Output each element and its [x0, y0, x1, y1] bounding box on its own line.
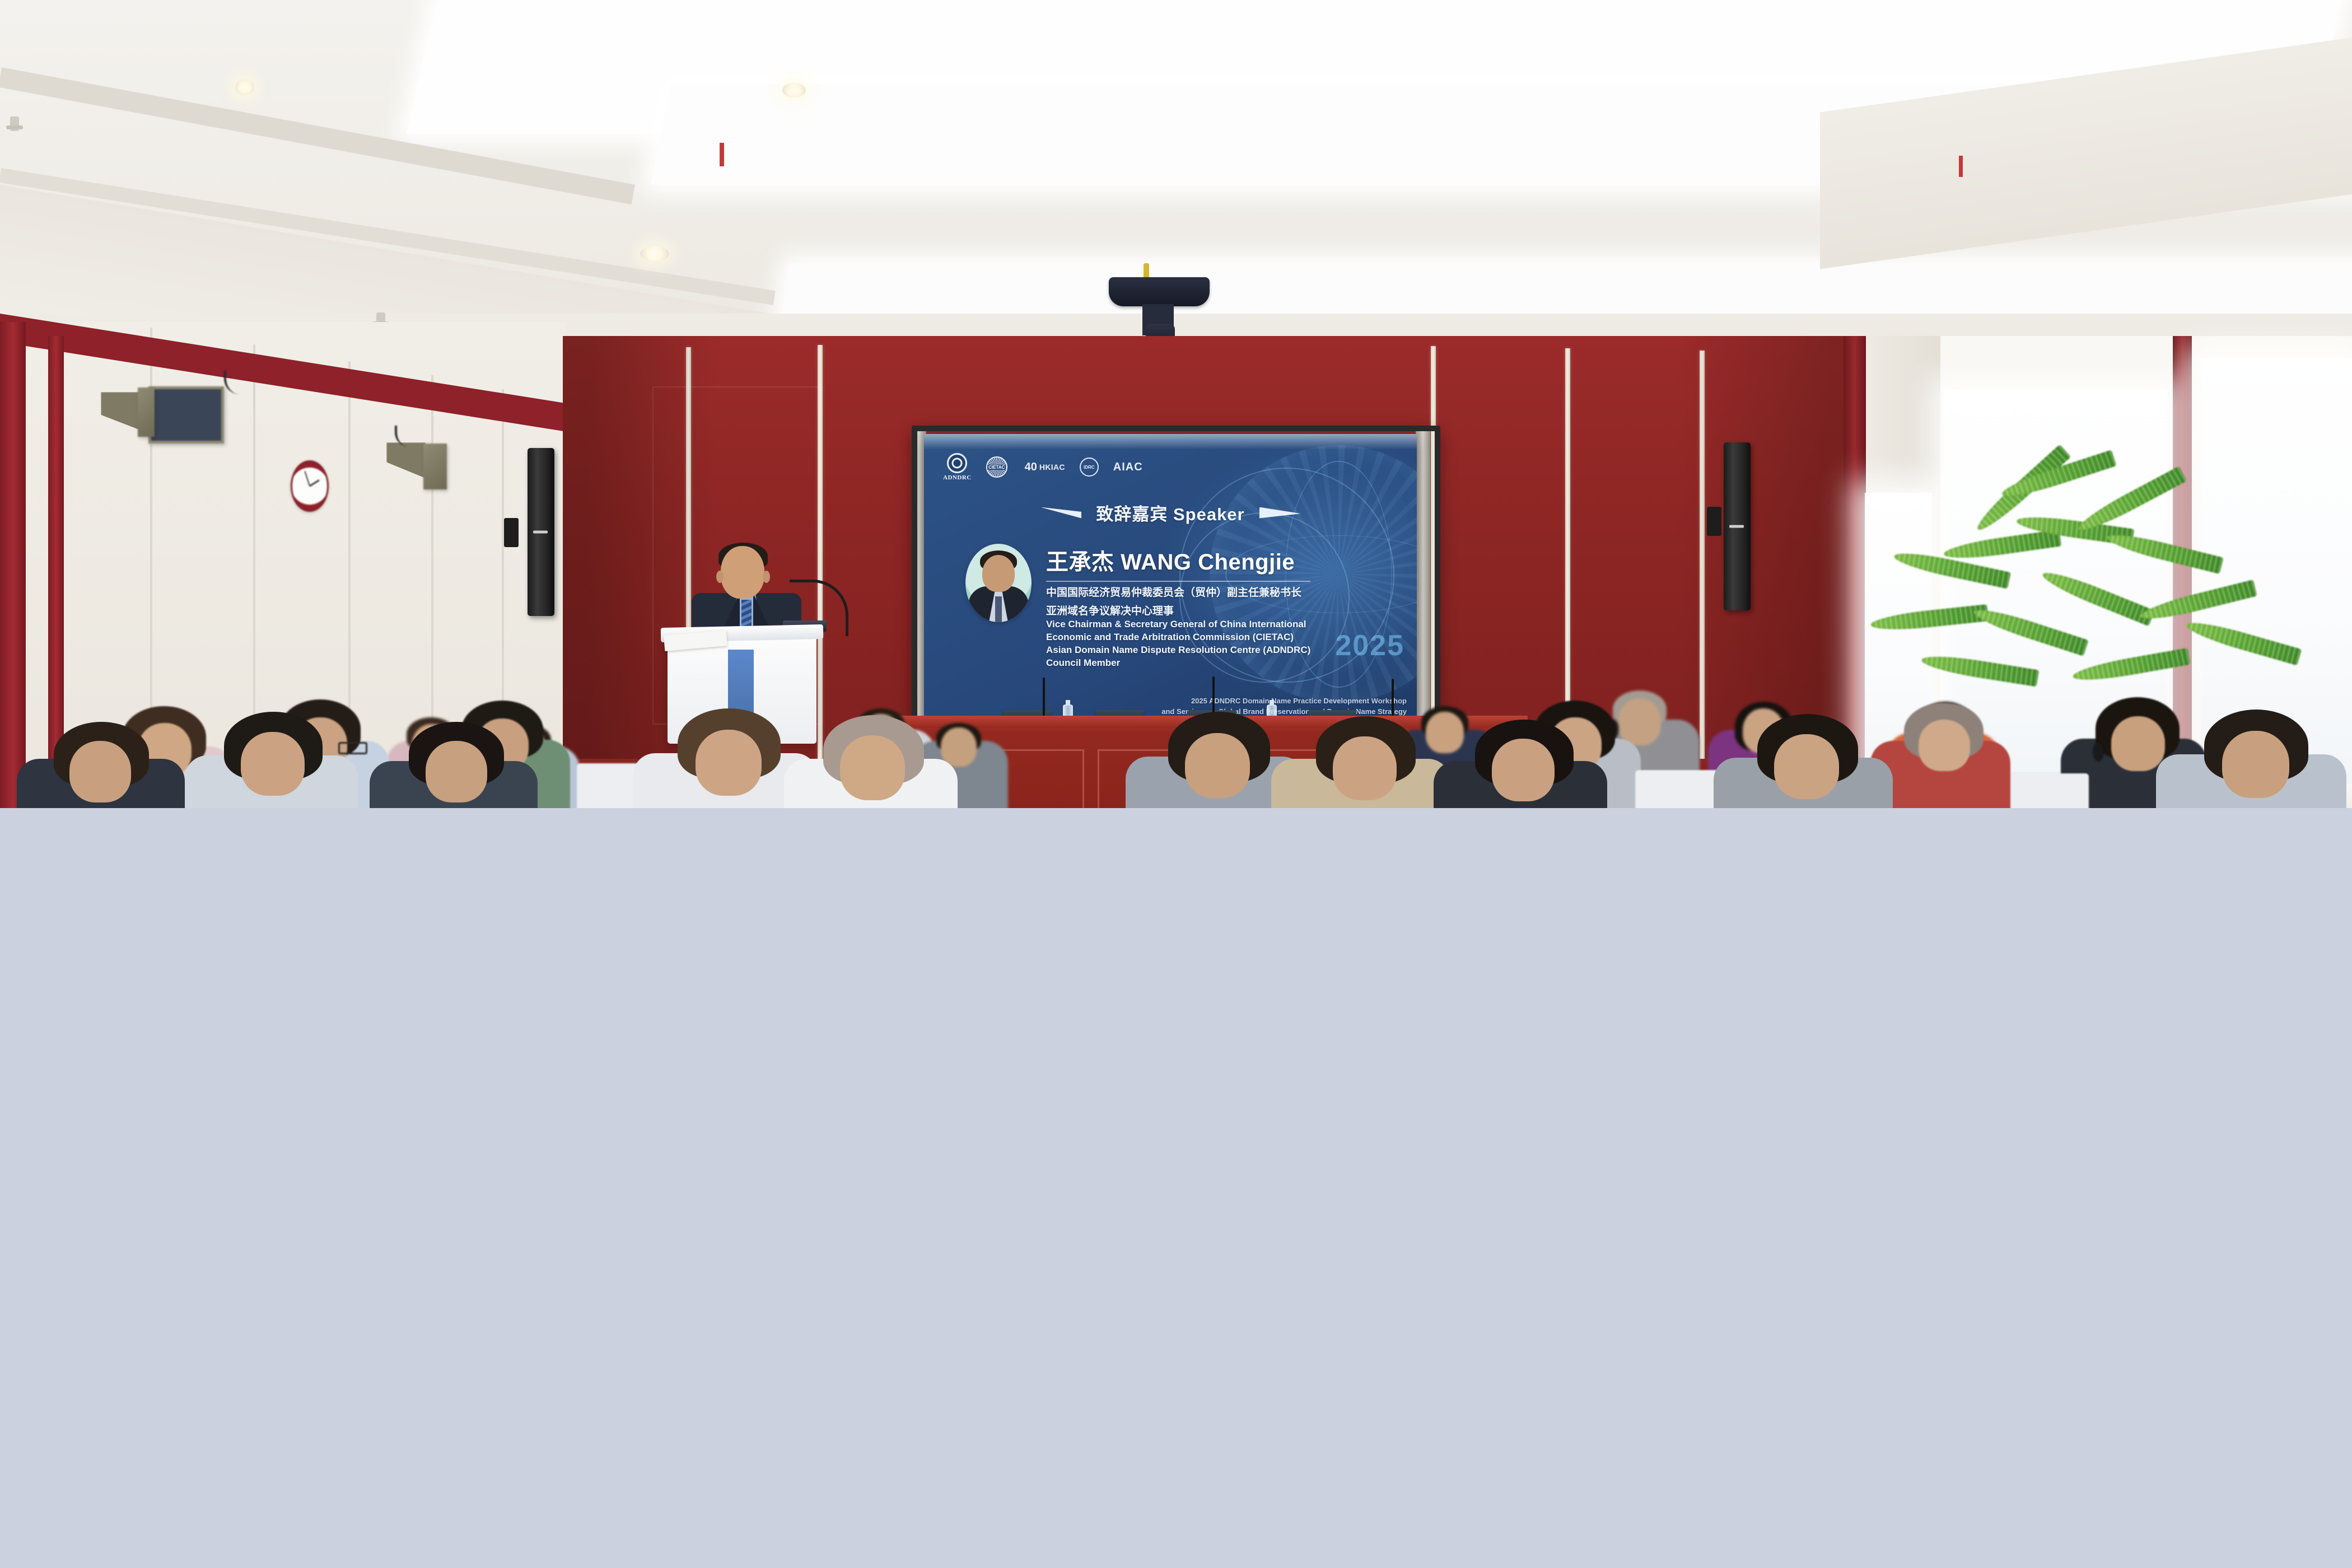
logo-hkiac-icon: 40 HKIAC: [1025, 461, 1065, 474]
bose-mount-left: [504, 518, 519, 547]
ceiling-downlight-1: [235, 80, 254, 95]
logo-cietac-icon: CIETAC: [986, 456, 1010, 478]
logo-adndrc-icon: ADNDRC: [943, 453, 972, 481]
arrow-left-icon: [1040, 507, 1081, 519]
bottom-overlay-panel: [0, 808, 2352, 1568]
sprinkler-head-1: [10, 116, 19, 131]
wall-clock-icon: [291, 460, 329, 512]
ceiling-downlight-2: [640, 246, 669, 261]
adndrc-mark: [947, 453, 967, 473]
adndrc-label: ADNDRC: [943, 474, 972, 481]
audience-area: [0, 562, 2352, 808]
hkiac-label: HKIAC: [1039, 463, 1065, 472]
ceiling-projector: [1109, 277, 1210, 306]
slide-header-text: 致辞嘉宾 Speaker: [1096, 500, 1244, 525]
screen-glare: [924, 434, 1417, 450]
vent-ribbon-red-1: [720, 143, 724, 166]
logo-aiac-icon: AIAC: [1113, 461, 1143, 474]
screenshot-root: ADNDRC CIETAC 40 HKIAC IDRC AIAC 致辞嘉宾 Sp…: [0, 0, 2352, 1568]
bose-mount-right: [1707, 507, 1721, 536]
bosch-speaker-left-1: [138, 388, 155, 437]
ceiling-downlight-4: [782, 83, 806, 97]
wall-monitor: [148, 386, 224, 444]
slide-header: 致辞嘉宾 Speaker: [924, 500, 1417, 525]
logo-idrc-icon: IDRC: [1080, 458, 1099, 477]
bosch-speaker-left-2: [423, 444, 447, 489]
slide-logo-bar: ADNDRC CIETAC 40 HKIAC IDRC AIAC: [943, 453, 1143, 481]
cietac-seal: CIETAC: [986, 456, 1007, 478]
arrow-right-icon: [1259, 507, 1301, 519]
conference-photo: ADNDRC CIETAC 40 HKIAC IDRC AIAC 致辞嘉宾 Sp…: [0, 0, 2352, 808]
hkiac-anniversary-badge: 40: [1025, 461, 1037, 474]
cietac-label: CIETAC: [987, 465, 1006, 470]
vent-ribbon-red-2: [1959, 156, 1963, 177]
